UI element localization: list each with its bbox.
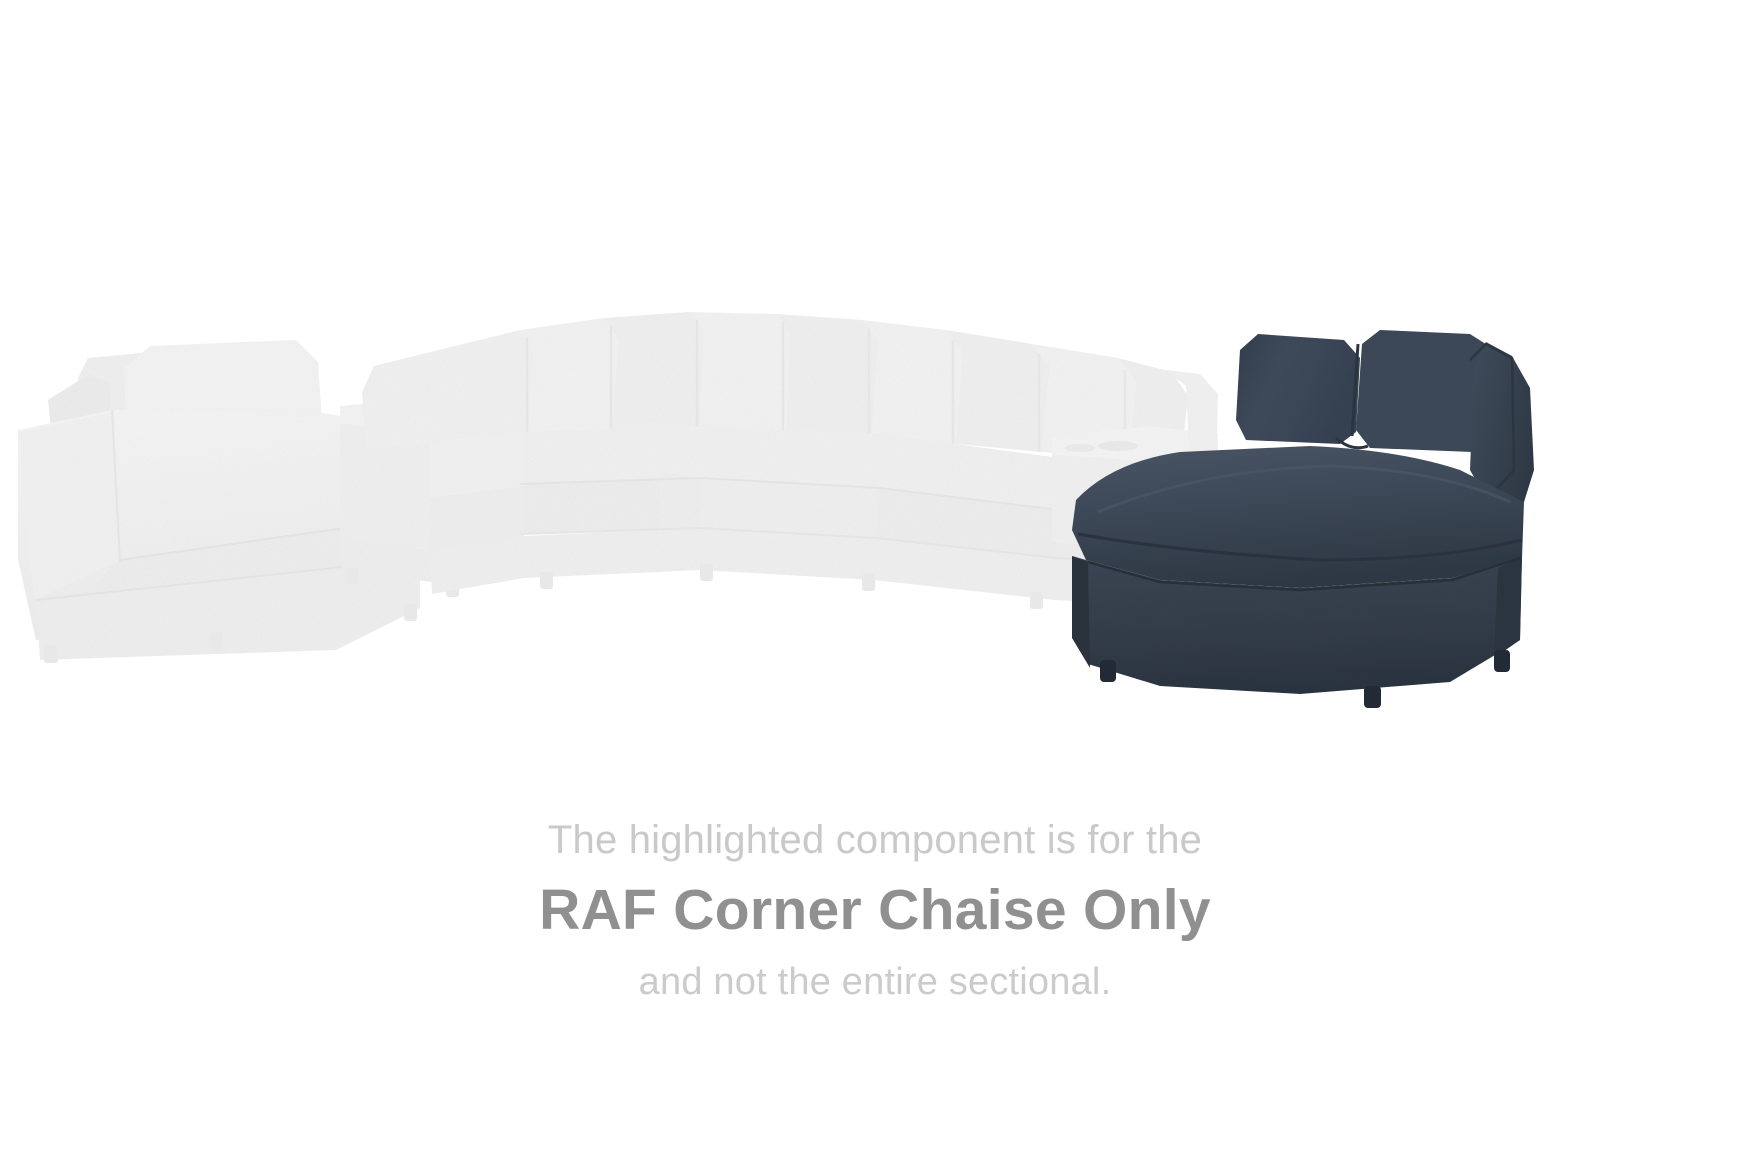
- chaise-left-side-panel: [1072, 556, 1090, 668]
- chaise-foot-left: [1100, 660, 1116, 682]
- sectional-sofa-illustration: [0, 0, 1750, 800]
- ghost-sectional-group: [18, 312, 1220, 663]
- product-figure: [0, 0, 1750, 800]
- caption-block: The highlighted component is for the RAF…: [0, 820, 1750, 1001]
- caption-line-2: RAF Corner Chaise Only: [0, 882, 1750, 963]
- chaise-foot-right: [1494, 650, 1510, 672]
- chaise-back-cushion-left: [1236, 334, 1360, 444]
- chaise-foot-center: [1364, 686, 1381, 708]
- chaise-right-base-bevel: [1494, 556, 1522, 658]
- caption-line-1: The highlighted component is for the: [0, 820, 1750, 882]
- caption-line-3: and not the entire sectional.: [0, 963, 1750, 1001]
